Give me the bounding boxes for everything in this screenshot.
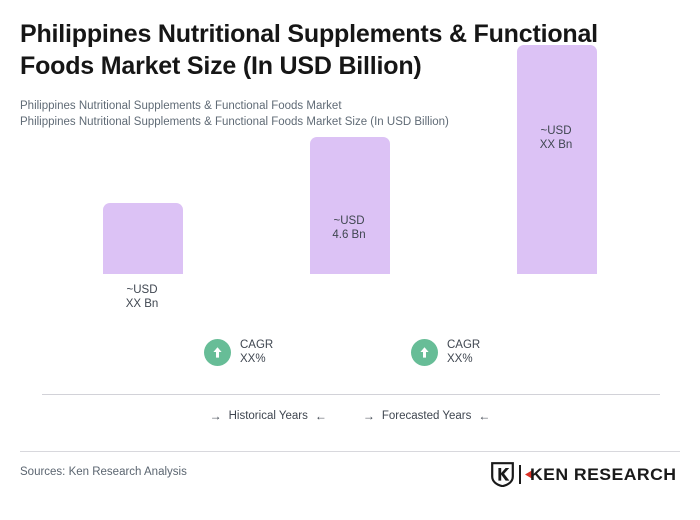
bar-chart: ~USD XX Bn ~USD 4.6 Bn ~USD XX Bn CAGR X… xyxy=(0,0,700,400)
period-forecasted-years: → Forecasted Years ← xyxy=(363,409,491,423)
bar-base-year xyxy=(310,137,390,274)
cagr-historical-line1: CAGR xyxy=(240,338,273,352)
arrow-right-icon: → xyxy=(210,409,222,423)
sources-text: Sources: Ken Research Analysis xyxy=(20,466,187,478)
x-axis-line xyxy=(42,394,660,395)
bar-label-forecast-line2: XX Bn xyxy=(501,138,611,152)
cagr-forecast-line1: CAGR xyxy=(447,338,480,352)
bar-label-historical-line1: ~USD xyxy=(87,283,197,297)
footer-divider xyxy=(20,451,680,452)
bar-label-forecast: ~USD XX Bn xyxy=(501,124,611,153)
bar-label-base-year-line2: 4.6 Bn xyxy=(294,228,404,242)
cagr-text-historical: CAGR XX% xyxy=(240,338,273,367)
cagr-annotation-historical: CAGR XX% xyxy=(204,338,273,367)
period-historical-label: Historical Years xyxy=(229,410,308,422)
bar-label-base-year: ~USD 4.6 Bn xyxy=(294,214,404,243)
arrow-up-icon xyxy=(204,339,231,366)
period-legend: → Historical Years ← → Forecasted Years … xyxy=(0,409,700,423)
bar-label-forecast-line1: ~USD xyxy=(501,124,611,138)
period-forecasted-label: Forecasted Years xyxy=(382,410,472,422)
cagr-forecast-line2: XX% xyxy=(447,352,480,366)
ken-research-logo: KEN RESEARCH xyxy=(491,462,671,487)
arrow-left-icon: ← xyxy=(478,409,490,423)
ken-research-shield-icon xyxy=(491,462,514,487)
bar-label-historical-line2: XX Bn xyxy=(87,297,197,311)
arrow-left-icon: ← xyxy=(315,409,327,423)
logo-text: KEN RESEARCH xyxy=(530,465,676,485)
cagr-annotation-forecast: CAGR XX% xyxy=(411,338,480,367)
bar-label-base-year-line1: ~USD xyxy=(294,214,404,228)
bar-forecast xyxy=(517,45,597,274)
cagr-text-forecast: CAGR XX% xyxy=(447,338,480,367)
cagr-historical-line2: XX% xyxy=(240,352,273,366)
chart-page: Philippines Nutritional Supplements & Fu… xyxy=(0,0,700,520)
period-historical-years: → Historical Years ← xyxy=(210,409,327,423)
bar-historical xyxy=(103,203,183,274)
logo-separator-bar xyxy=(519,465,521,484)
arrow-right-icon: → xyxy=(363,409,375,423)
bar-label-historical: ~USD XX Bn xyxy=(87,283,197,312)
arrow-up-icon xyxy=(411,339,438,366)
